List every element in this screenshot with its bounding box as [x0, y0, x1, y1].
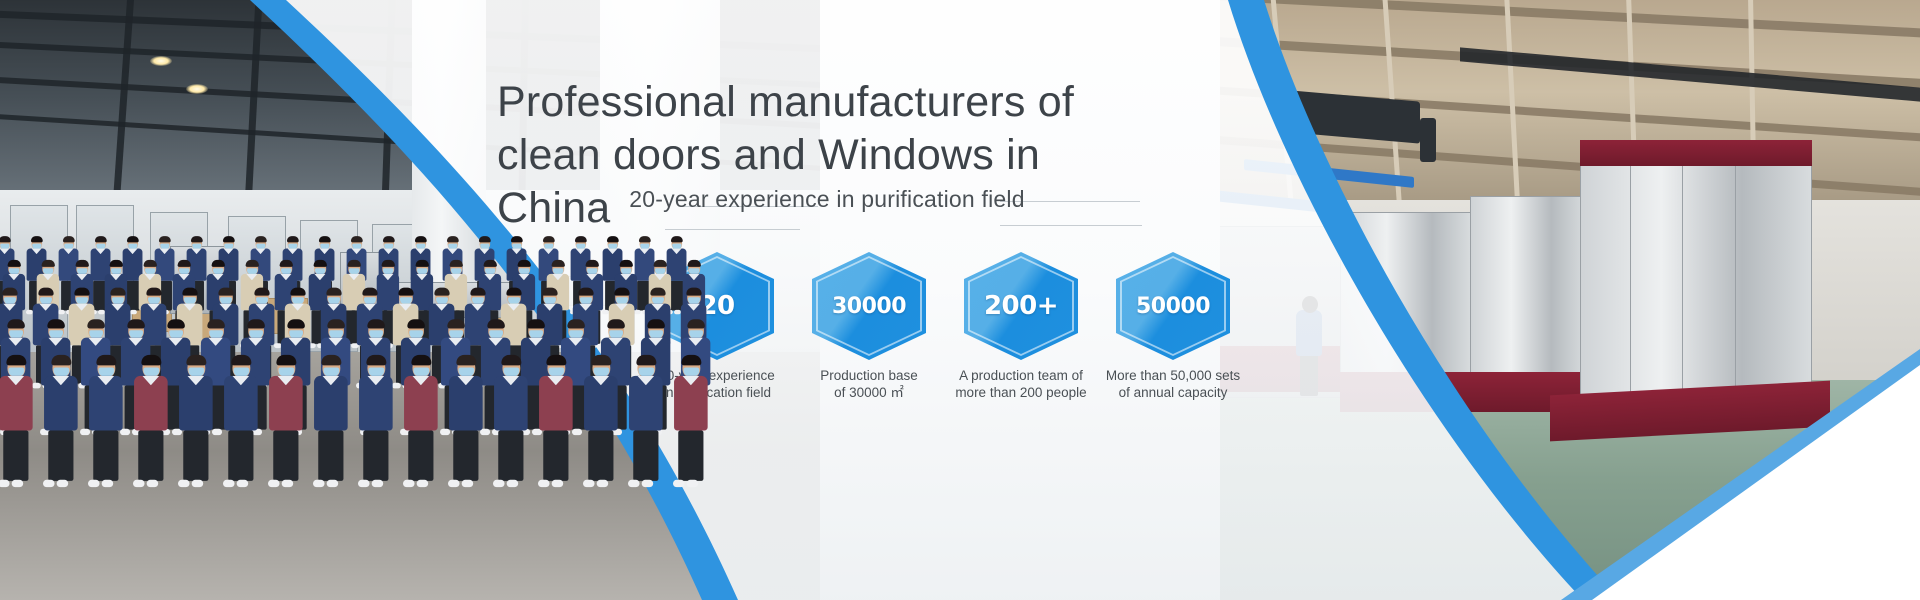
- hexagon-badge: 30000: [812, 252, 926, 360]
- stat-value: 200+: [964, 252, 1078, 360]
- hexagon-badge: 50000: [1116, 252, 1230, 360]
- person: [223, 358, 259, 481]
- person: [673, 358, 709, 481]
- person: [0, 358, 34, 481]
- person: [133, 358, 169, 481]
- divider-bottom-right: [1000, 225, 1142, 226]
- person: [178, 358, 214, 481]
- divider-bottom-left: [665, 229, 800, 230]
- stats-row: 2020-year experience in purification fie…: [660, 252, 1260, 402]
- person: [493, 358, 529, 481]
- person: [358, 358, 394, 481]
- person: [448, 358, 484, 481]
- page-subtitle: 20-year experience in purification field: [497, 186, 1157, 213]
- person: [268, 358, 304, 481]
- person: [583, 358, 619, 481]
- stat-item: 50000More than 50,000 sets of annual cap…: [1116, 252, 1230, 401]
- person: [313, 358, 349, 481]
- person: [403, 358, 439, 481]
- stat-caption: A production team of more than 200 peopl…: [953, 367, 1089, 401]
- stat-caption: More than 50,000 sets of annual capacity: [1105, 367, 1241, 401]
- person: [628, 358, 664, 481]
- staff-group: [0, 238, 820, 478]
- person: [538, 358, 574, 481]
- stat-item: 200+A production team of more than 200 p…: [964, 252, 1078, 401]
- hero-banner: Professional manufacturers of clean door…: [0, 0, 1920, 600]
- hexagon-badge: 200+: [964, 252, 1078, 360]
- stat-value: 50000: [1116, 252, 1230, 360]
- person: [88, 358, 124, 481]
- stat-caption: Production base of 30000 ㎡: [801, 367, 937, 401]
- person: [43, 358, 79, 481]
- stat-item: 30000Production base of 30000 ㎡: [812, 252, 926, 401]
- stat-value: 30000: [812, 252, 926, 360]
